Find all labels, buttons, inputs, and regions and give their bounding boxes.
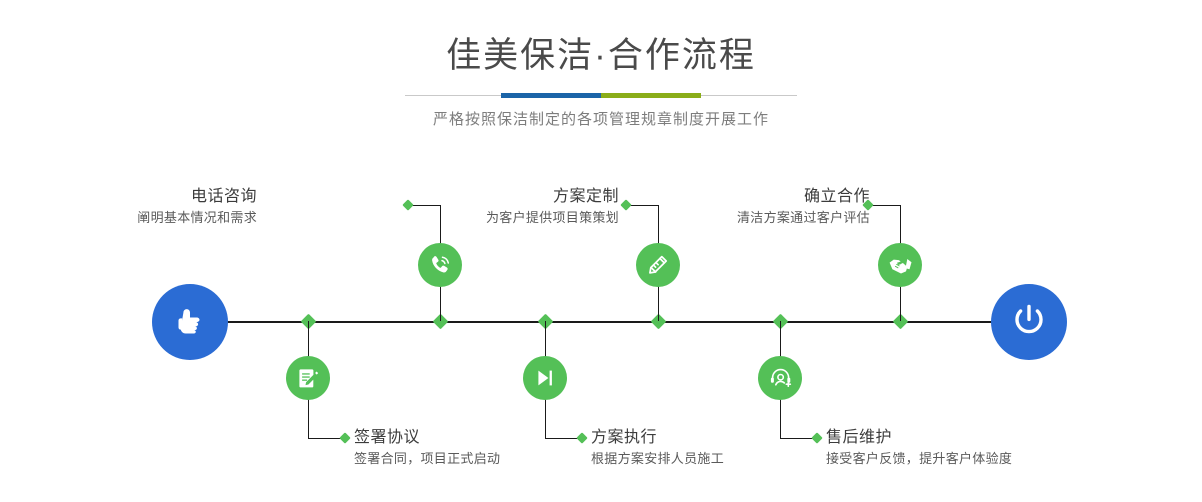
label-dot-step-2 xyxy=(339,432,350,443)
divider-segment-green xyxy=(601,93,701,98)
step-4-label: 方案执行 根据方案安排人员施工 xyxy=(591,427,724,469)
step-3-desc: 为客户提供项目策策划 xyxy=(486,208,619,228)
pencil-plan-icon xyxy=(645,252,671,278)
step-3-badge xyxy=(636,243,680,287)
step-1-badge xyxy=(418,243,462,287)
timeline-start-endpoint xyxy=(152,284,228,360)
connector-horizontal-step-5 xyxy=(871,205,901,206)
sign-document-icon xyxy=(296,366,321,391)
step-4-desc: 根据方案安排人员施工 xyxy=(591,449,724,469)
title-divider xyxy=(405,92,797,99)
connector-horizontal-step-3 xyxy=(629,205,659,206)
step-5-desc: 清洁方案通过客户评估 xyxy=(737,208,870,228)
step-6-desc: 接受客户反馈，提升客户体验度 xyxy=(826,449,1012,469)
step-3-label: 方案定制 为客户提供项目策策划 xyxy=(486,186,619,228)
label-dot-step-1 xyxy=(402,199,413,210)
divider-segment-blue xyxy=(501,93,601,98)
label-dot-step-6 xyxy=(811,432,822,443)
step-3-title: 方案定制 xyxy=(486,186,619,208)
process-flow-infographic: 佳美保洁·合作流程 严格按照保洁制定的各项管理规章制度开展工作 xyxy=(0,0,1202,502)
page-subtitle: 严格按照保洁制定的各项管理规章制度开展工作 xyxy=(0,110,1202,130)
step-2-title: 签署协议 xyxy=(354,427,500,449)
label-dot-step-3 xyxy=(620,199,631,210)
step-2-badge xyxy=(286,356,330,400)
customer-service-icon xyxy=(768,366,793,391)
phone-call-icon xyxy=(427,252,453,278)
step-6-badge xyxy=(758,356,802,400)
handshake-icon xyxy=(887,252,914,279)
step-5-label: 确立合作 清洁方案通过客户评估 xyxy=(737,186,870,228)
step-6-title: 售后维护 xyxy=(826,427,1012,449)
power-icon xyxy=(1008,299,1050,346)
step-1-title: 电话咨询 xyxy=(137,186,257,208)
step-1-desc: 阐明基本情况和需求 xyxy=(137,208,257,228)
label-dot-step-4 xyxy=(576,432,587,443)
step-4-title: 方案执行 xyxy=(591,427,724,449)
play-execute-icon xyxy=(533,366,557,390)
step-2-desc: 签署合同，项目正式启动 xyxy=(354,449,500,469)
pointing-hand-icon xyxy=(170,300,210,345)
step-1-label: 电话咨询 阐明基本情况和需求 xyxy=(137,186,257,228)
header: 佳美保洁·合作流程 严格按照保洁制定的各项管理规章制度开展工作 xyxy=(0,34,1202,130)
page-title: 佳美保洁·合作流程 xyxy=(0,34,1202,78)
step-2-label: 签署协议 签署合同，项目正式启动 xyxy=(354,427,500,469)
step-6-label: 售后维护 接受客户反馈，提升客户体验度 xyxy=(826,427,1012,469)
connector-horizontal-step-1 xyxy=(411,205,441,206)
timeline-end-endpoint xyxy=(991,284,1067,360)
step-4-badge xyxy=(523,356,567,400)
step-5-badge xyxy=(878,243,922,287)
step-5-title: 确立合作 xyxy=(737,186,870,208)
